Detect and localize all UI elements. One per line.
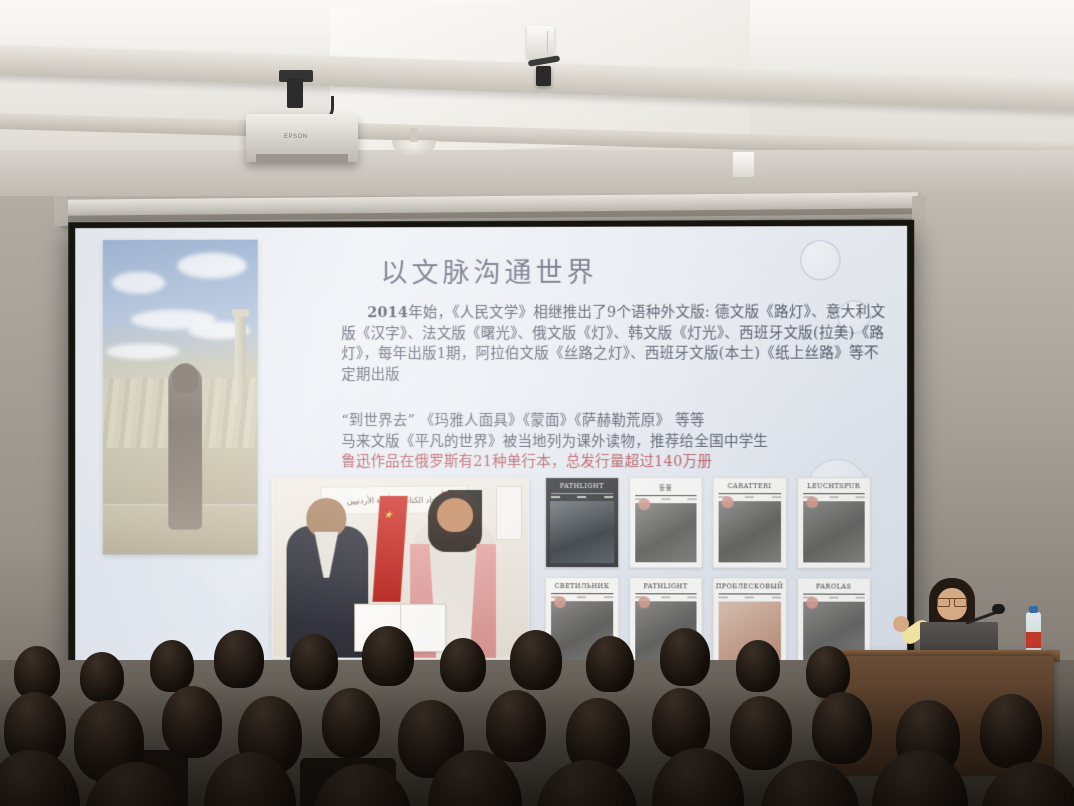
slide-paragraph-2-line-3-highlight: 鲁迅作品在俄罗斯有21种单行本，总发行量超过140万册 <box>341 452 889 473</box>
slide-paragraph-1: 2014年始，《人民文学》相继推出了9个语种外文版: 德文版《路灯》、意大利文版… <box>341 302 889 385</box>
presentation-slide: 以文脉沟通世界 2014年始，《人民文学》相继推出了9个语种外文版: 德文版《路… <box>75 226 907 668</box>
lecture-hall-photo: EPSON 以文脉沟通世界 2014年始，《人民文学》相继推出了9个语种外文版:… <box>0 0 1074 806</box>
magazine-cover: СВЕТИЛЬНИК <box>545 577 619 668</box>
signed-agreement-document <box>354 604 446 652</box>
slide-paragraph-2: “到世界去” 《玛雅人面具》《蒙面》《萨赫勒荒原》 等等 马来文版《平凡的世界》… <box>341 411 889 473</box>
slide-paragraph-1-lead: 2014 <box>367 304 408 321</box>
left-wall-strip <box>0 196 70 696</box>
magazine-title: FAROLAS <box>798 578 870 592</box>
magazine-cover: 등불 <box>629 477 703 568</box>
slide-photo-ceremony: اتحاد الكتاب والأدباء الأردنيين ★ ✦ <box>272 477 529 659</box>
projection-screen-frame: 以文脉沟通世界 2014年始，《人民文学》相继推出了9个语种外文版: 德文版《路… <box>68 220 914 674</box>
ceiling-junction-box-secondary <box>733 152 754 177</box>
slide-paragraph-2-line-1: “到世界去” 《玛雅人面具》《蒙面》《萨赫勒荒原》 等等 <box>341 411 889 432</box>
security-camera-icon <box>536 66 551 86</box>
magazine-title: LEUCHTSPUR <box>798 478 870 492</box>
microphone-icon <box>992 604 1005 614</box>
projector-brand-label: EPSON <box>284 134 308 140</box>
ruin-column <box>235 315 246 403</box>
projection-screen: 以文脉沟通世界 2014年始，《人民文学》相继推出了9个语种外文版: 德文版《路… <box>75 226 907 668</box>
slide-photo-ruins <box>103 240 258 555</box>
slide-paragraph-2-line-2: 马来文版《平凡的世界》被当地列为课外读物，推荐给全国中学生 <box>341 432 889 453</box>
glasses-icon <box>937 598 967 604</box>
magazine-title: ПРОБЛЕСКОВЫЙ ОГОНЬ <box>714 578 786 592</box>
magazine-cover: CARATTERI <box>713 477 787 568</box>
magazine-title: PATHLIGHT <box>630 578 702 592</box>
magazine-cover: ПРОБЛЕСКОВЫЙ ОГОНЬ <box>713 577 787 668</box>
magazine-cover: PATHLIGHT <box>545 477 619 568</box>
projector-icon: EPSON <box>246 114 358 162</box>
magazine-title: 등불 <box>630 478 702 494</box>
magazine-cover: LEUCHTSPUR <box>797 477 871 568</box>
roller-end-left <box>54 196 68 226</box>
magazine-cover: PATHLIGHT <box>629 577 703 668</box>
magazine-title: СВЕТИЛЬНИК <box>546 578 618 592</box>
organization-emblem-icon <box>496 486 522 540</box>
podium <box>822 656 1054 776</box>
magazine-title: PATHLIGHT <box>546 478 618 492</box>
magazine-title: CARATTERI <box>714 478 786 492</box>
slide-paragraph-1-text: 年始，《人民文学》相继推出了9个语种外文版: 德文版《路灯》、意大利文版《汉字》… <box>341 304 885 383</box>
ruins-figure <box>168 366 202 530</box>
magazine-cover-grid: PATHLIGHT 등불 CARATTERI <box>545 477 871 668</box>
ceiling-junction-box <box>527 26 554 58</box>
